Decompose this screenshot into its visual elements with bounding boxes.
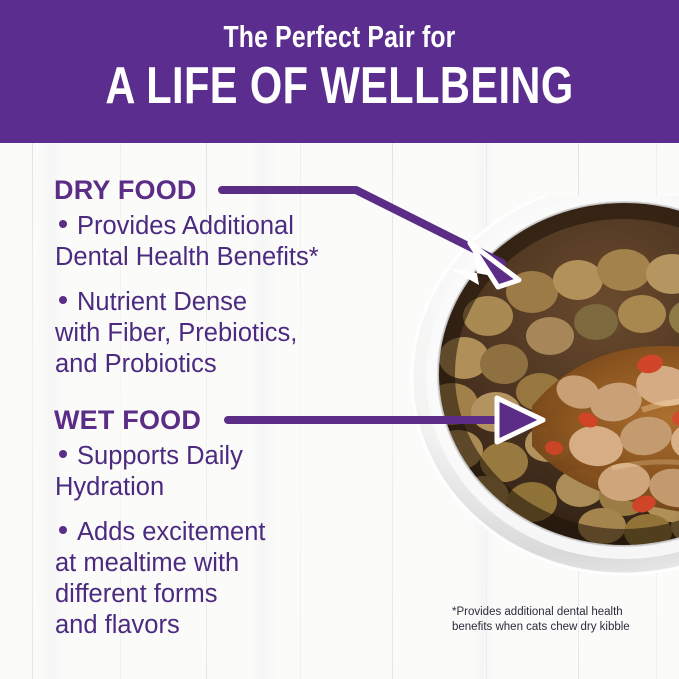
promo-graphic: The Perfect Pair for A LIFE OF WELLBEING xyxy=(0,0,679,679)
footnote-line-1: *Provides additional dental health xyxy=(452,605,679,620)
footnote: *Provides additional dental health benef… xyxy=(452,605,679,635)
footnote-line-2: benefits when cats chew dry kibble xyxy=(452,620,679,635)
bullet-line: at mealtime with xyxy=(55,548,415,579)
bullet-line: and Probiotics xyxy=(55,349,415,380)
bullet-dot xyxy=(59,296,67,304)
dry-food-bullets: Provides Additional Dental Health Benefi… xyxy=(55,211,415,394)
benefits-column: DRY FOOD Provides Additional Dental Heal… xyxy=(0,143,430,679)
bullet-dot xyxy=(59,220,67,228)
bullet-line: Hydration xyxy=(55,472,415,503)
bullet-line: Supports Daily xyxy=(77,442,243,470)
food-bowl-image xyxy=(392,196,679,586)
bullet-dot xyxy=(59,450,67,458)
bullet-line: and flavors xyxy=(55,610,415,641)
bullet-dot xyxy=(59,526,67,534)
bullet-line: with Fiber, Prebiotics, xyxy=(55,318,415,349)
header-banner: The Perfect Pair for A LIFE OF WELLBEING xyxy=(0,0,679,143)
header-line-2: A LIFE OF WELLBEING xyxy=(68,58,611,114)
wet-food-bullets: Supports Daily Hydration Adds excitement… xyxy=(55,441,415,655)
bullet-item: Adds excitement at mealtime with differe… xyxy=(55,517,415,641)
dry-food-heading: DRY FOOD xyxy=(54,175,197,206)
bullet-item: Provides Additional Dental Health Benefi… xyxy=(55,211,415,273)
header-line-1: The Perfect Pair for xyxy=(68,20,611,54)
bullet-line: Provides Additional xyxy=(77,212,294,240)
bullet-line: Nutrient Dense xyxy=(77,288,247,316)
bullet-line: Dental Health Benefits* xyxy=(55,242,415,273)
bullet-item: Nutrient Dense with Fiber, Prebiotics, a… xyxy=(55,287,415,380)
wet-food-heading: WET FOOD xyxy=(54,405,201,436)
header-text-block: The Perfect Pair for A LIFE OF WELLBEING xyxy=(0,20,679,114)
bullet-item: Supports Daily Hydration xyxy=(55,441,415,503)
bullet-line: Adds excitement xyxy=(77,518,266,546)
bullet-line: different forms xyxy=(55,579,415,610)
